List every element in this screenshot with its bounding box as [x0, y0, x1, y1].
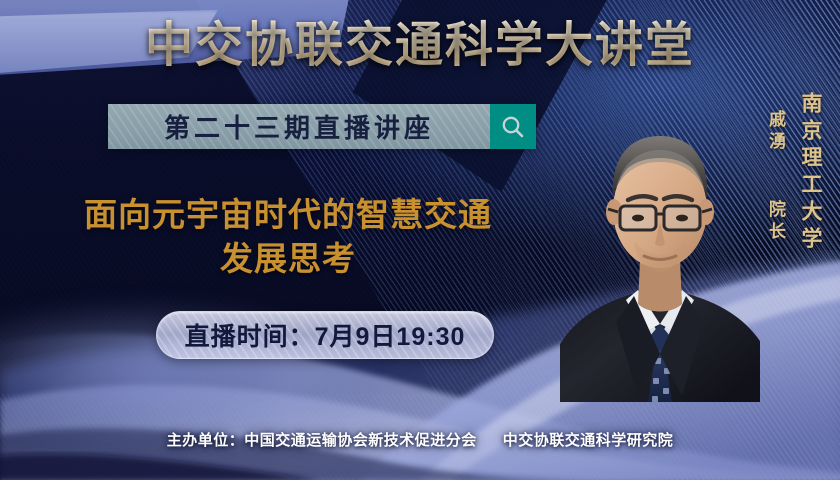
footer-prefix: 主办单位：: [167, 432, 245, 449]
search-icon: [500, 114, 526, 140]
episode-bar: 第二十三期直播讲座: [108, 104, 536, 149]
footer-organizers: 主办单位：中国交通运输协会新技术促进分会中交协联交通科学研究院: [0, 429, 840, 450]
speaker-title: 院长: [763, 200, 788, 244]
broadcast-time-badge: 直播时间：7月9日19:30: [156, 311, 494, 359]
lecture-topic: 面向元宇宙时代的智慧交通 发展思考: [28, 193, 548, 280]
search-button[interactable]: [490, 104, 536, 149]
page-title: 中交协联交通科学大讲堂: [0, 18, 840, 73]
topic-line-1: 面向元宇宙时代的智慧交通: [84, 195, 492, 234]
topic-line-2: 发展思考: [28, 237, 548, 281]
speaker-photo: [560, 92, 760, 402]
broadcast-time-label: 直播时间：7月9日19:30: [185, 317, 466, 353]
poster-canvas: 中交协联交通科学大讲堂 第二十三期直播讲座 面向元宇宙时代的智慧交通 发展思考 …: [0, 0, 840, 480]
footer-org-2: 中交协联交通科学研究院: [503, 432, 674, 449]
speaker-organization: 南京理工大学: [796, 92, 826, 254]
episode-label: 第二十三期直播讲座: [164, 108, 434, 145]
episode-bar-body: 第二十三期直播讲座: [108, 104, 490, 149]
speaker-name: 戚湧: [763, 110, 788, 154]
footer-org-1: 中国交通运输协会新技术促进分会: [244, 432, 477, 449]
